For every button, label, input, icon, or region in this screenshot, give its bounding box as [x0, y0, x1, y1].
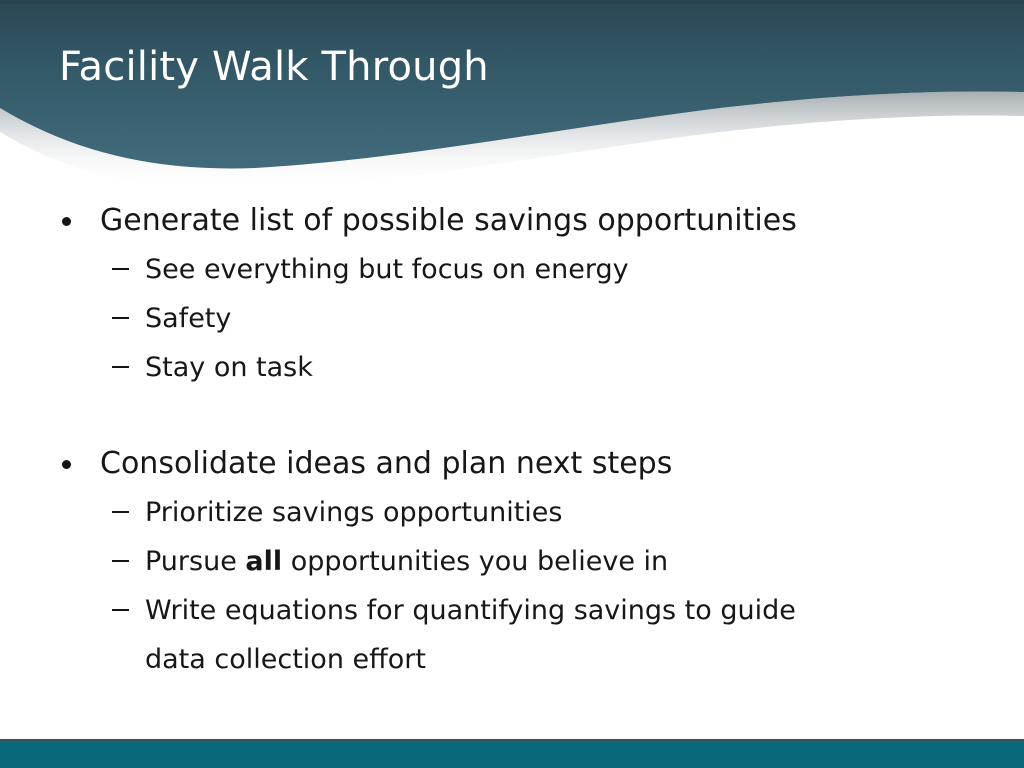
list-item-label: See everything but focus on energy [145, 245, 865, 294]
list-item-label: Prioritize savings opportunities [145, 488, 865, 537]
slide-body: Generate list of possible savings opport… [0, 196, 1024, 726]
bullet-group: Consolidate ideas and plan next steps Pr… [0, 439, 1024, 684]
list-item-level2: Pursue all opportunities you believe in [0, 537, 1024, 586]
bullet-dash-icon [112, 317, 129, 319]
slide: Facility Walk Through Generate list of p… [0, 0, 1024, 768]
list-item-level2: Write equations for quantifying savings … [0, 586, 1024, 684]
list-item-level2: Prioritize savings opportunities [0, 488, 1024, 537]
list-item-level2: See everything but focus on energy [0, 245, 1024, 294]
slide-header-banner: Facility Walk Through [0, 0, 1024, 200]
text-segment-bold: all [245, 546, 282, 577]
list-item-label: Consolidate ideas and plan next steps [100, 446, 672, 481]
bullet-dash-icon [112, 511, 129, 513]
bullet-dash-icon [112, 268, 129, 270]
page-title: Facility Walk Through [59, 40, 959, 94]
list-item-level2: Stay on task [0, 343, 1024, 392]
footer-bar [0, 741, 1024, 768]
list-item-label: Safety [145, 294, 865, 343]
list-item-level1: Generate list of possible savings opport… [0, 196, 1024, 245]
text-segment-plain: opportunities you believe in [282, 546, 668, 577]
bullet-dot-icon [62, 460, 71, 469]
bullet-dash-icon [112, 560, 129, 562]
text-segment-plain: Pursue [145, 546, 245, 577]
bullet-dash-icon [112, 366, 129, 368]
list-item-label: Stay on task [145, 343, 865, 392]
bullet-dash-icon [112, 609, 129, 611]
bullet-group: Generate list of possible savings opport… [0, 196, 1024, 392]
header-wave-shape [0, 0, 1024, 200]
list-item-label: Generate list of possible savings opport… [100, 203, 797, 238]
list-item-label-rich: Pursue all opportunities you believe in [145, 537, 865, 586]
bullet-dot-icon [62, 217, 71, 226]
list-item-level1: Consolidate ideas and plan next steps [0, 439, 1024, 488]
list-item-label: Write equations for quantifying savings … [145, 586, 865, 684]
list-item-level2: Safety [0, 294, 1024, 343]
